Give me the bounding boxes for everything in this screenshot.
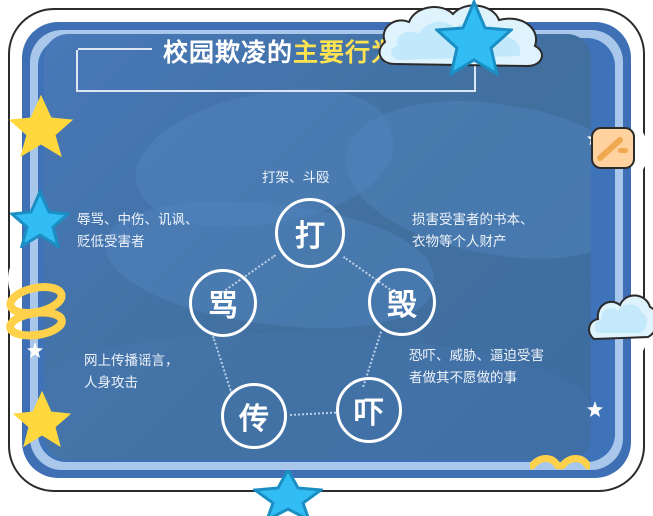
node-xia-label: 吓 (354, 388, 384, 432)
poster-canvas: 校园欺凌的主要行为 打 骂 毁 传 吓 打架、斗殴 辱骂、中伤、讥讽、 贬低受害… (0, 0, 653, 500)
star-left-upper-icon (8, 94, 74, 158)
caption-da: 打架、斗殴 (262, 167, 402, 189)
star-mini-left-icon (26, 341, 44, 359)
caption-ma: 辱骂、中伤、讥讽、 贬低受害者 (77, 209, 237, 253)
star-left-middle-icon (10, 190, 70, 248)
page-title: 校园欺凌的主要行为 (156, 36, 404, 70)
node-ma-label: 骂 (208, 281, 238, 325)
node-da-label: 打 (295, 211, 325, 255)
ring-left-icon (6, 280, 66, 340)
caption-hui: 损害受害者的书本、 衣物等个人财产 (412, 209, 582, 253)
caption-xia: 恐吓、威胁、逼迫受害 者做其不愿做的事 (409, 345, 589, 389)
caption-chuan: 网上传播谣言， 人身攻击 (84, 350, 234, 394)
star-left-lower-icon (12, 390, 72, 448)
star-mini-right-lower-icon (586, 400, 604, 418)
star-bottom-icon (253, 470, 323, 516)
node-hui[interactable]: 毁 (368, 268, 436, 336)
title-plain-text: 校园欺凌的 (163, 39, 293, 67)
badge-right-icon (590, 126, 636, 170)
ribbon-bottom-icon (530, 452, 590, 476)
node-ma[interactable]: 骂 (189, 269, 257, 337)
cloud-right-icon (586, 281, 653, 351)
node-chuan-label: 传 (239, 394, 269, 438)
node-xia[interactable]: 吓 (336, 377, 402, 443)
node-da[interactable]: 打 (275, 198, 345, 268)
node-hui-label: 毁 (387, 280, 417, 324)
star-top-right-icon (435, 0, 513, 76)
